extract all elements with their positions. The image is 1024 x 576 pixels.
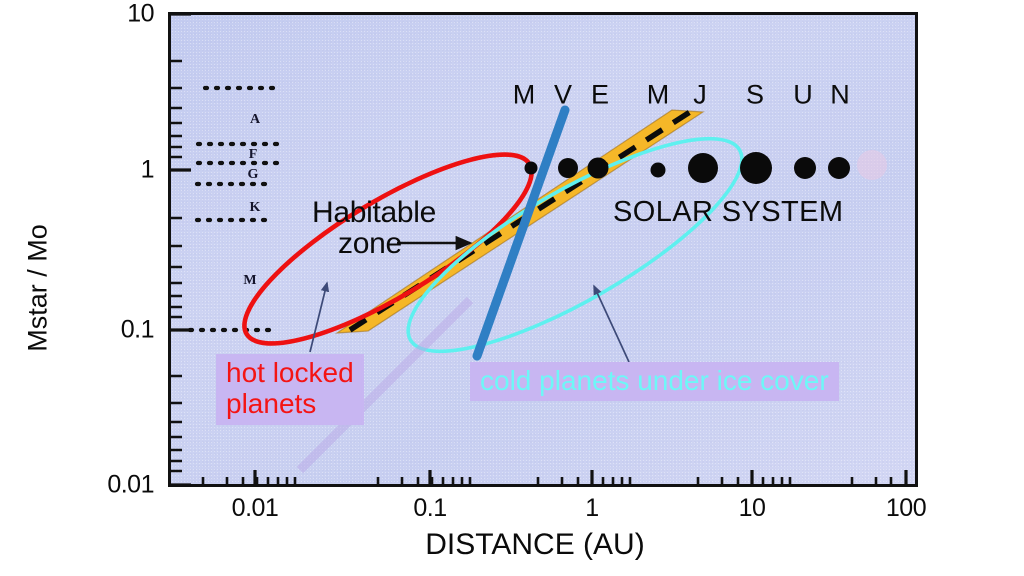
planet-dot-mercury [525,162,538,175]
cold-planets-ellipse [383,102,767,387]
planet-dot-mars [651,163,666,178]
planet-dot-uranus [794,157,816,179]
hot-locked-arrow [310,283,327,352]
planet-letter: N [830,80,850,111]
planet-dot-venus [558,158,578,178]
y-tick-label: 1 [141,156,154,185]
y-axis-title: Mstar / Mo [23,224,54,352]
x-tick-label: 10 [739,494,766,523]
y-axis-ticks [169,14,191,485]
planet-dot-jupiter [688,153,718,183]
x-axis-title: DISTANCE (AU) [0,528,1024,562]
planet-letter: V [554,80,572,111]
hot-locked-planets-callout: hot locked planets [216,354,364,425]
x-axis-ticks [203,470,906,486]
spectral-class-a: A [250,112,260,128]
planet-dot-saturn [740,152,772,184]
spectral-class-k: K [250,200,261,216]
spectral-class-dividers [190,88,277,330]
planet-dot-neptune [828,157,850,179]
planet-dot-earth [588,158,609,179]
scan-artifact [857,150,887,180]
figure-root: 1010.10.01 0.010.1110100 Mstar / Mo DIST… [0,0,1024,576]
spectral-class-m: M [243,273,256,289]
planet-letter: U [793,80,813,111]
planet-letter: M [513,80,536,111]
hot-locked-callout-line1: hot locked [226,357,354,388]
cold-planets-callout: cold planets under ice cover [470,362,839,401]
x-tick-label: 0.1 [413,494,446,523]
planet-letter: S [746,80,764,111]
planet-letter: E [591,80,609,111]
cold-planets-arrow [594,286,629,362]
y-axis-title-wrapper: Mstar / Mo [42,0,44,576]
habitable-zone-label-line1: Habitable [312,196,436,229]
y-tick-label: 0.1 [121,316,154,345]
x-tick-label: 1 [585,494,598,523]
spectral-class-f: F [249,147,258,163]
habitable-zone-label: Habitable zone [312,198,436,259]
y-tick-label: 10 [127,0,154,29]
cold-planets-callout-text: cold planets under ice cover [480,365,829,396]
hot-locked-callout-line2: planets [226,388,354,419]
x-tick-label: 100 [886,494,926,523]
x-tick-label: 0.01 [232,494,279,523]
planet-letter: M [647,80,670,111]
solar-system-label: SOLAR SYSTEM [613,196,843,229]
spectral-class-g: G [248,167,259,183]
x-axis-title-text: DISTANCE (AU) [425,528,644,561]
planet-letter: J [693,80,707,111]
habitable-zone-label-line2: zone [338,229,436,260]
